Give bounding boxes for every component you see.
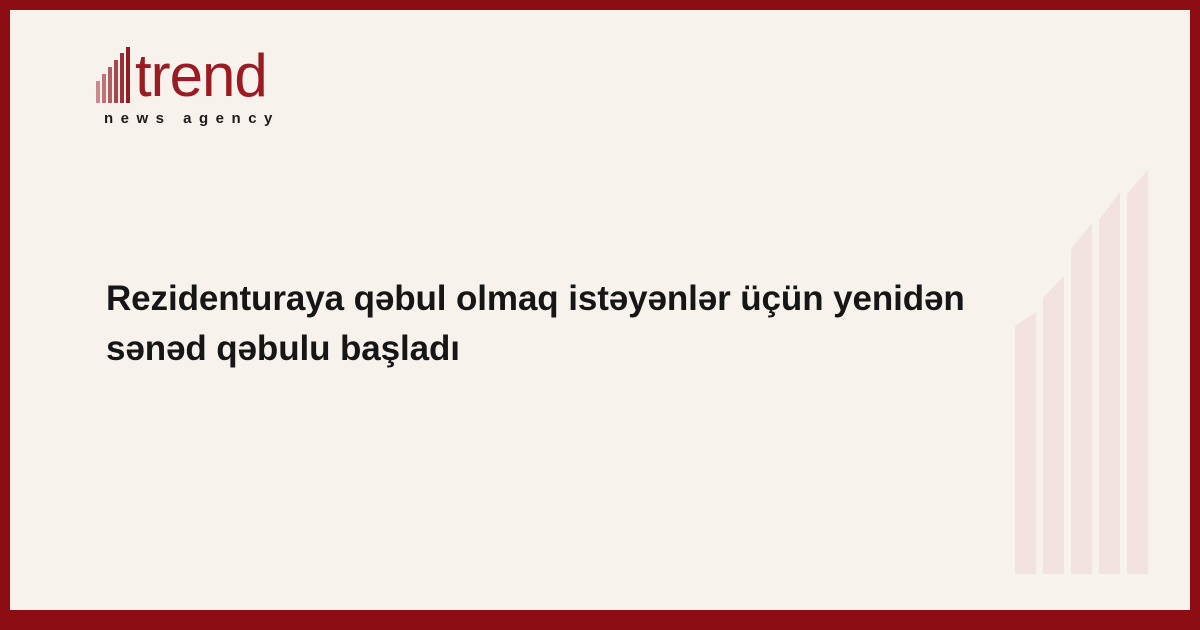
logo-mark-row: trend bbox=[96, 45, 396, 103]
logo-bar-6 bbox=[126, 47, 130, 103]
logo-bar-5 bbox=[120, 53, 124, 103]
decor-bar-5 bbox=[1127, 170, 1148, 574]
logo-bar-3 bbox=[108, 67, 112, 103]
logo-tagline: news agency bbox=[104, 110, 396, 127]
ascending-bars-mark-icon bbox=[96, 51, 132, 103]
headline-text: Rezidenturaya qəbul olmaq istəyənlər üçü… bbox=[106, 274, 1046, 375]
decor-bar-4 bbox=[1099, 192, 1120, 574]
trend-logo[interactable]: trend news agency bbox=[96, 45, 396, 150]
decor-bar-2 bbox=[1043, 276, 1064, 574]
logo-wordmark: trend bbox=[135, 48, 267, 103]
logo-bar-2 bbox=[102, 74, 106, 103]
card-canvas: trend news agency Rezidenturaya qəbul ol… bbox=[10, 10, 1190, 610]
logo-bar-4 bbox=[114, 60, 118, 103]
social-share-card: trend news agency Rezidenturaya qəbul ol… bbox=[0, 0, 1200, 630]
logo-bar-1 bbox=[96, 81, 100, 103]
decor-bar-3 bbox=[1071, 223, 1092, 574]
